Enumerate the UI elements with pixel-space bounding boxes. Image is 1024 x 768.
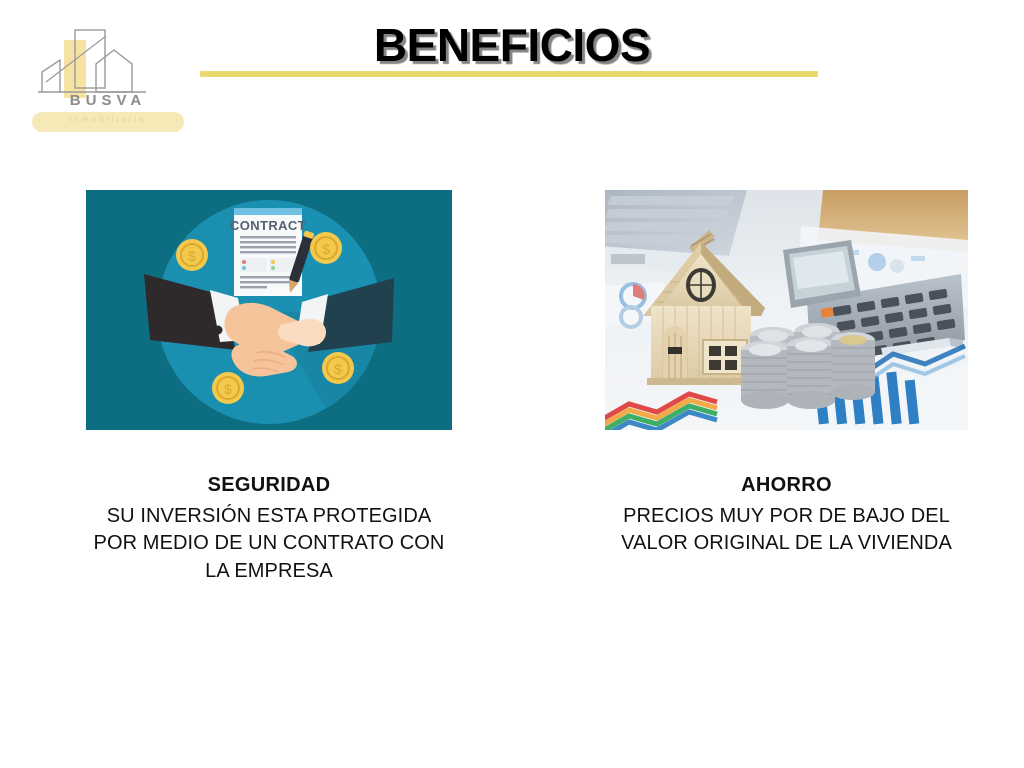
benefit-column-ahorro: AHORRO PRECIOS MUY POR DE BAJO DEL VALOR… (605, 190, 968, 558)
svg-text:$: $ (188, 248, 196, 264)
svg-text:$: $ (322, 241, 330, 257)
title-underline-rule (200, 71, 818, 77)
logo-wordmark: BUSVA (38, 92, 178, 109)
benefit-body: PRECIOS MUY POR DE BAJO DEL VALOR ORIGIN… (605, 503, 968, 558)
svg-text:CONTRACT: CONTRACT (230, 218, 306, 233)
logo-tagline: Inmobiliaria (32, 115, 184, 124)
benefit-column-seguridad: CONTRACT (86, 190, 452, 585)
benefit-body: SU INVERSIÓN ESTA PROTEGIDA POR MEDIO DE… (86, 503, 452, 586)
benefit-caption-ahorro: AHORRO PRECIOS MUY POR DE BAJO DEL VALOR… (605, 472, 968, 558)
benefit-heading: SEGURIDAD (86, 472, 452, 500)
svg-text:$: $ (224, 381, 232, 397)
page-title: BENEFICIOS (0, 18, 1024, 72)
benefit-caption-seguridad: SEGURIDAD SU INVERSIÓN ESTA PROTEGIDA PO… (86, 472, 452, 585)
slide-root: BUSVA Inmobiliaria BENEFICIOS CONTRACT (0, 0, 1024, 768)
house-model-coins-photo (605, 190, 968, 430)
handshake-contract-illustration: CONTRACT (86, 190, 452, 430)
svg-text:$: $ (334, 361, 342, 377)
benefit-heading: AHORRO (605, 472, 968, 500)
